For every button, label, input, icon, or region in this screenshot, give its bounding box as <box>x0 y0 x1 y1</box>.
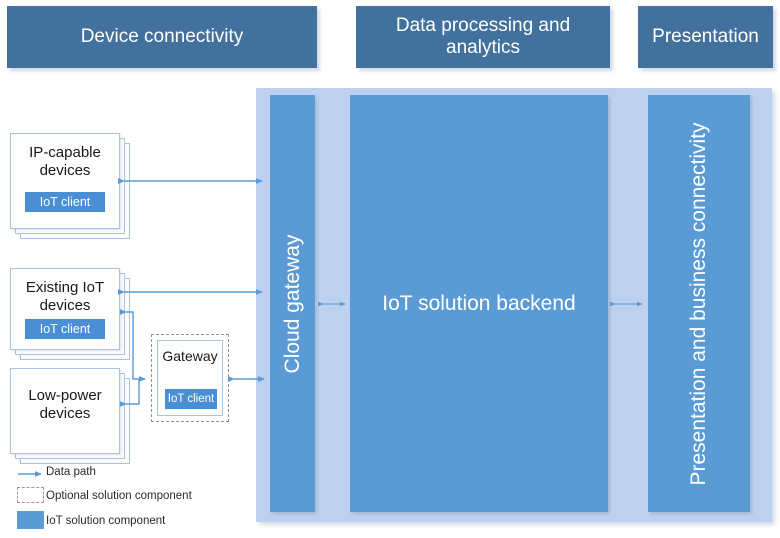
legend-label-optional-component: Optional solution component <box>46 490 192 502</box>
legend-label-data-path: Data path <box>46 466 96 478</box>
legend-solution-component-swatch <box>17 511 44 529</box>
legend-optional-component-swatch <box>17 487 44 503</box>
connector-low-power-devices-to-gateway <box>126 379 139 404</box>
connector-layer <box>0 0 780 538</box>
diagram-canvas: Device connectivity Data processing and … <box>0 0 780 538</box>
connector-existing-devices-to-gateway <box>126 312 145 379</box>
legend-label-solution-component: IoT solution component <box>46 515 165 527</box>
